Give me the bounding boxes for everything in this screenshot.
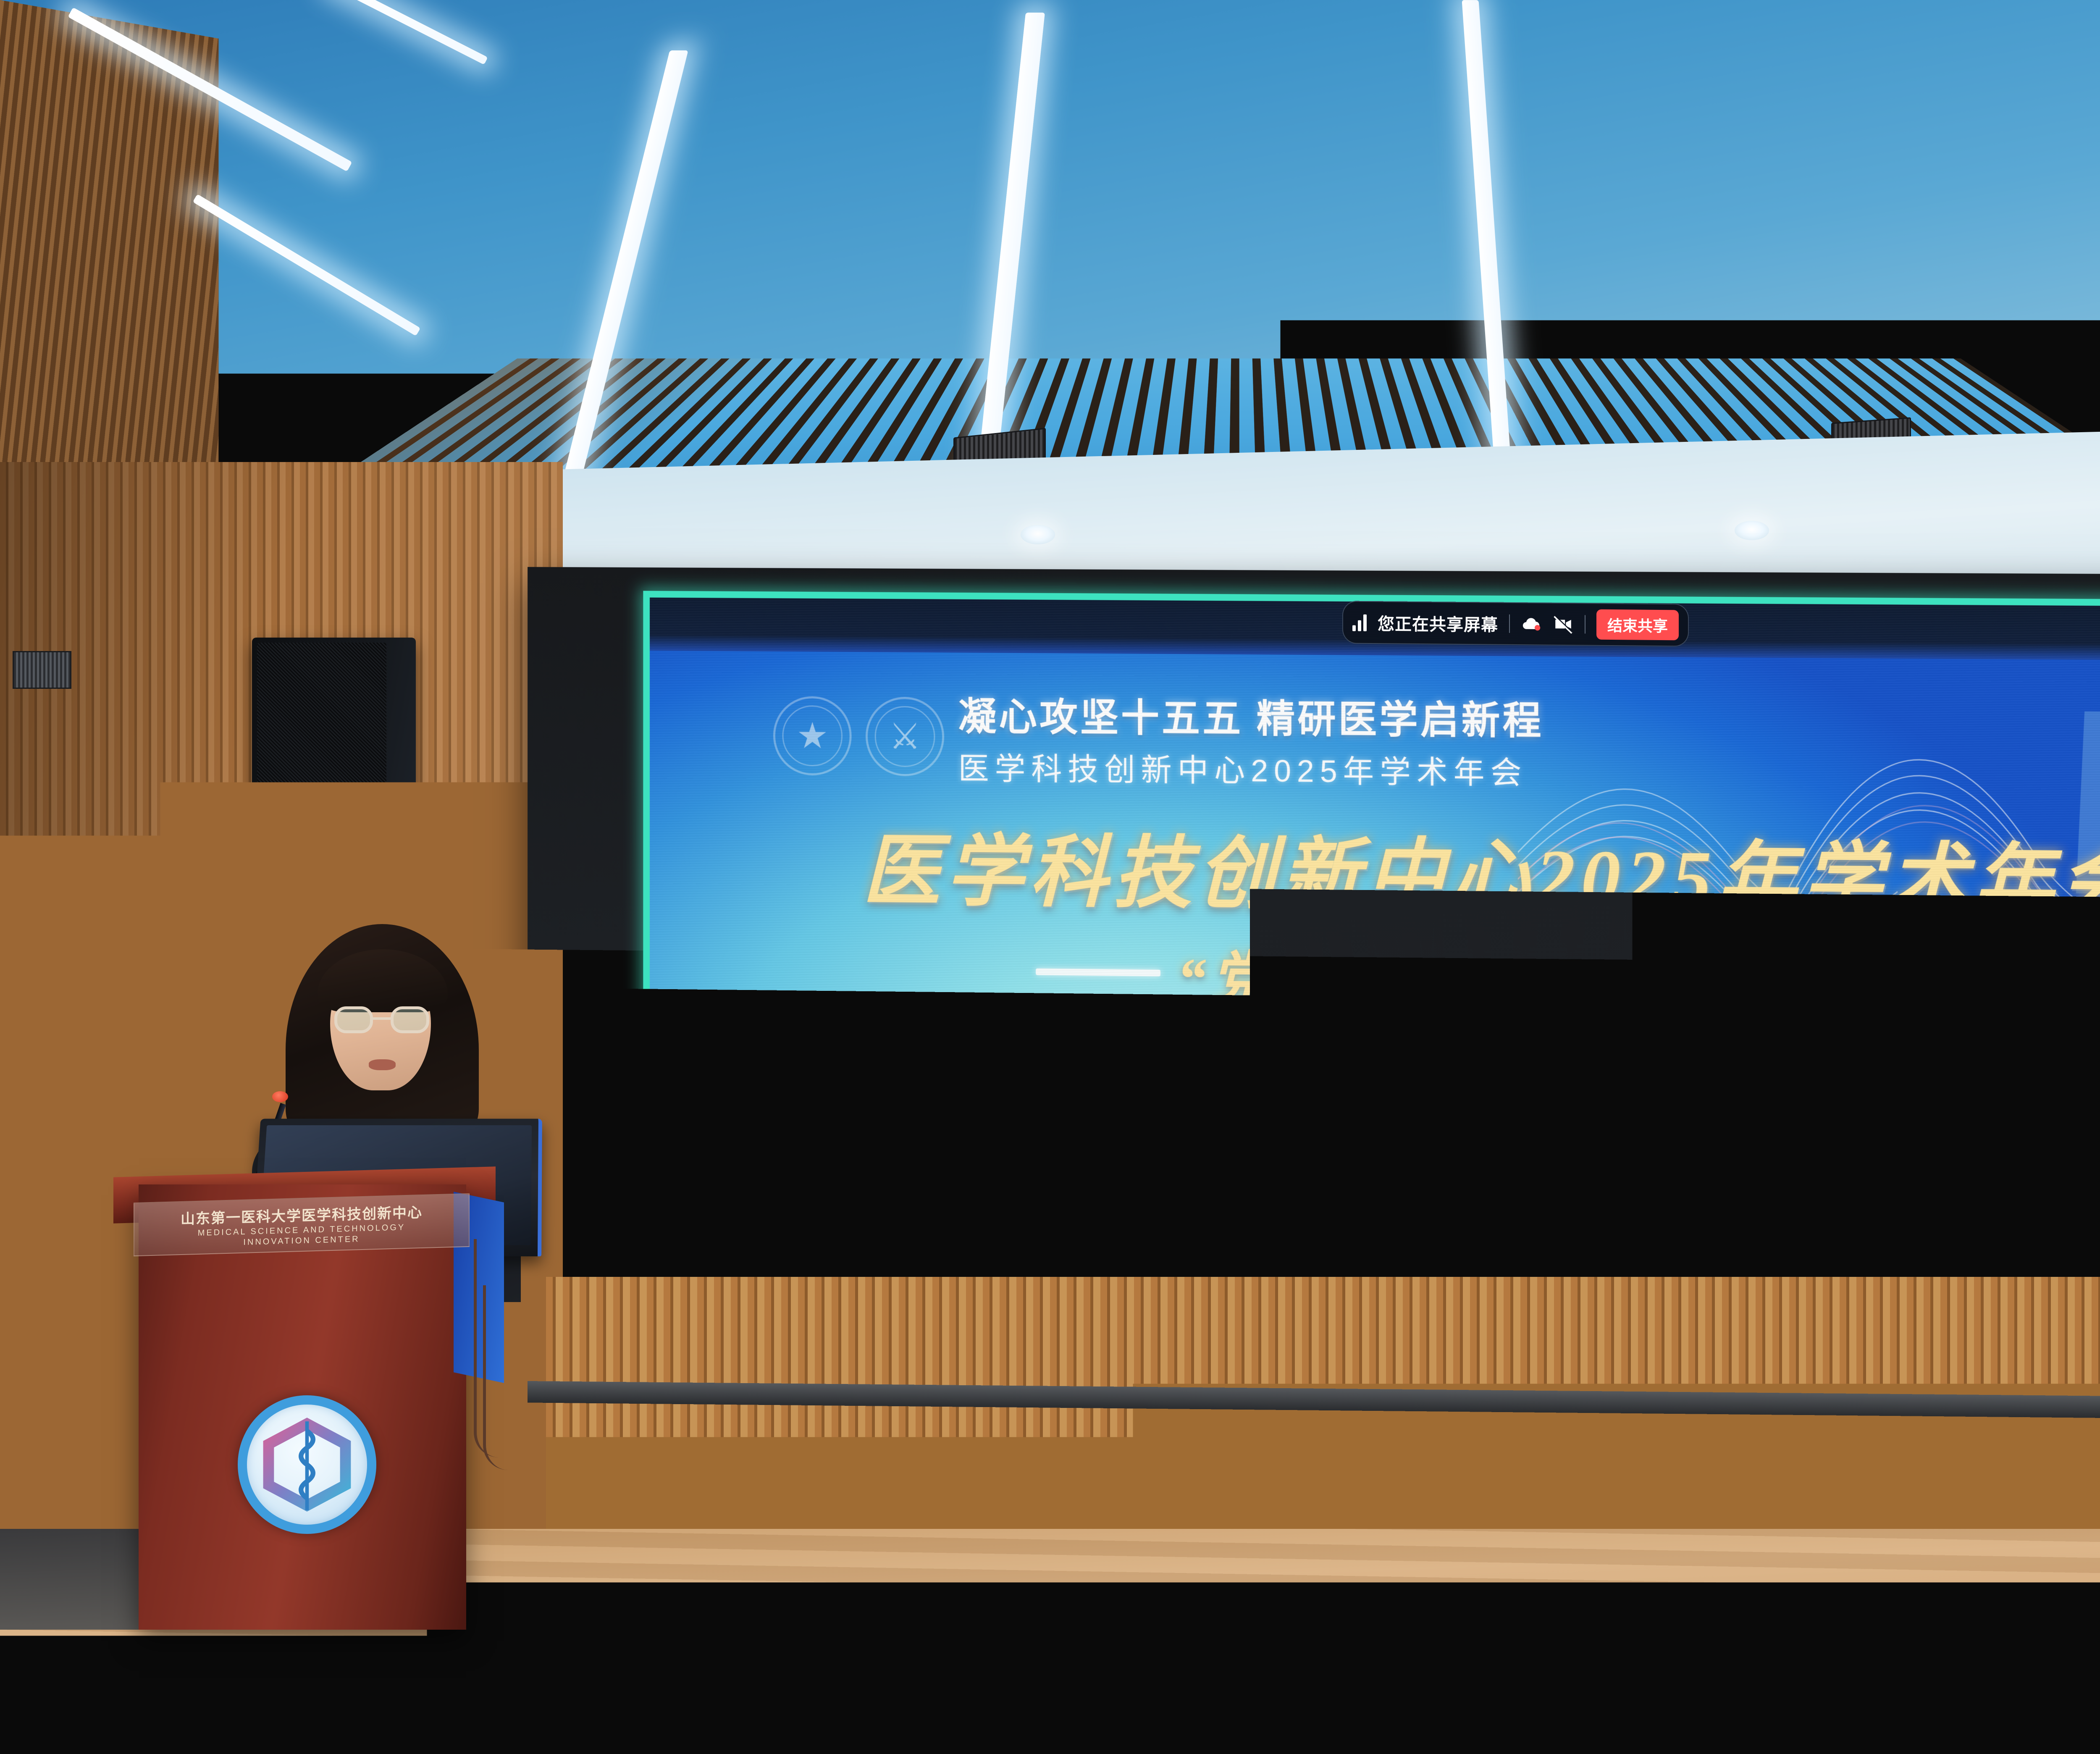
caduceus-hexagon-emblem-icon bbox=[238, 1395, 376, 1534]
medical-center-emblem-icon: ⚔ bbox=[866, 697, 944, 777]
screen-share-toolbar[interactable]: 您正在共享屏幕 结束共享 bbox=[1342, 601, 1689, 646]
slide-subtitle-block: “党建引领育师风，以赛促教 提质效” 专题论坛 bbox=[650, 926, 2100, 1122]
presenter-mouth bbox=[369, 1059, 396, 1070]
wall-mounted-loudspeaker bbox=[252, 638, 416, 814]
namecard-logo-blue-icon bbox=[703, 1724, 720, 1741]
presenter-glasses bbox=[334, 1006, 429, 1033]
recessed-downlight bbox=[1735, 521, 1769, 540]
slide-header-line1: 凝心攻坚十五五 精研医学启新程 bbox=[958, 685, 1544, 745]
share-status-label: 您正在共享屏幕 bbox=[1378, 610, 1498, 636]
presentation-slide: ★ ⚔ 凝心攻坚十五五 精研医学启新程 医学科技创新中心2025年学术年会 医学… bbox=[650, 598, 2100, 1386]
speaker-logo bbox=[276, 795, 296, 804]
water-bottle bbox=[1844, 1630, 1872, 1718]
slide-header-text: 凝心攻坚十五五 精研医学启新程 医学科技创新中心2025年学术年会 bbox=[958, 685, 1544, 793]
slide-header-line2: 医学科技创新中心2025年学术年会 bbox=[958, 743, 1544, 793]
wall-ac-grille bbox=[13, 651, 71, 689]
university-emblem-icon: ★ bbox=[773, 696, 852, 776]
namecard-logo-red-icon bbox=[680, 1724, 697, 1741]
microphone-head bbox=[272, 1091, 288, 1102]
signal-bars-icon bbox=[1352, 614, 1367, 631]
video-off-icon[interactable] bbox=[1553, 614, 1574, 635]
smiley-face-icon[interactable] bbox=[771, 1277, 792, 1299]
slide-subtitle-row-1: “党建引领育师风，以赛促教 bbox=[1036, 930, 1968, 1024]
slide-subtitle-line2: 提质效” 专题论坛 bbox=[1253, 1024, 1746, 1115]
speaking-indicator: 正在讲话: 科创; bbox=[2095, 1294, 2100, 1338]
emblem-glyph: ⚔ bbox=[868, 699, 942, 775]
slide-main-title: 医学科技创新中心2025年学术年会 bbox=[650, 805, 2100, 935]
namecard-text: 山东第一医科大学医学科技创新中心 MEDICAL SCIENCE AND TEC… bbox=[726, 1721, 907, 1743]
screenshot-stage: ★ ⚔ 凝心攻坚十五五 精研医学启新程 医学科技创新中心2025年学术年会 医学… bbox=[0, 0, 2100, 1754]
emblem-glyph: ★ bbox=[775, 698, 850, 774]
front-table bbox=[0, 1701, 2100, 1754]
namecard-en: MEDICAL SCIENCE AND TECHNOLOGY INNOVATIO… bbox=[726, 1736, 907, 1743]
shared-screen-highlight-border: ★ ⚔ 凝心攻坚十五五 精研医学启新程 医学科技创新中心2025年学术年会 医学… bbox=[643, 591, 2100, 1393]
divider bbox=[1509, 614, 1510, 633]
podium-plaque-en-line2: INNOVATION CENTER bbox=[243, 1234, 360, 1247]
dark-cup bbox=[59, 1684, 109, 1754]
table-namecard: 山东第一医科大学医学科技创新中心 MEDICAL SCIENCE AND TEC… bbox=[2092, 1722, 2100, 1754]
subtitle-dash bbox=[1036, 969, 1160, 977]
cloud-record-icon[interactable] bbox=[1521, 613, 1542, 634]
slide-subtitle-line1: “党建引领育师风，以赛促教 bbox=[1177, 931, 1968, 1024]
speaker-mount-bracket bbox=[332, 811, 382, 911]
water-bottle bbox=[530, 1630, 558, 1718]
recessed-downlight bbox=[1021, 525, 1055, 544]
end-share-button[interactable]: 结束共享 bbox=[1596, 609, 1679, 641]
divider bbox=[1585, 615, 1585, 633]
podium-plaque: 山东第一医科大学医学科技创新中心 MEDICAL SCIENCE AND TEC… bbox=[134, 1193, 470, 1256]
chat-input[interactable]: 说点什么... bbox=[761, 1269, 911, 1309]
chat-input-placeholder: 说点什么... bbox=[801, 1275, 895, 1303]
slide-subtitle-row-2: 提质效” 专题论坛 bbox=[1253, 1024, 1746, 1115]
speaker-grille bbox=[257, 643, 386, 809]
slide-header: ★ ⚔ 凝心攻坚十五五 精研医学启新程 医学科技创新中心2025年学术年会 bbox=[773, 681, 1902, 798]
power-cable bbox=[483, 1285, 512, 1470]
table-namecard: 山东第一医科大学医学科技创新中心 MEDICAL SCIENCE AND TEC… bbox=[664, 1709, 878, 1754]
namecard-cn: 山东第一医科大学医学科技创新中心 bbox=[726, 1721, 907, 1735]
